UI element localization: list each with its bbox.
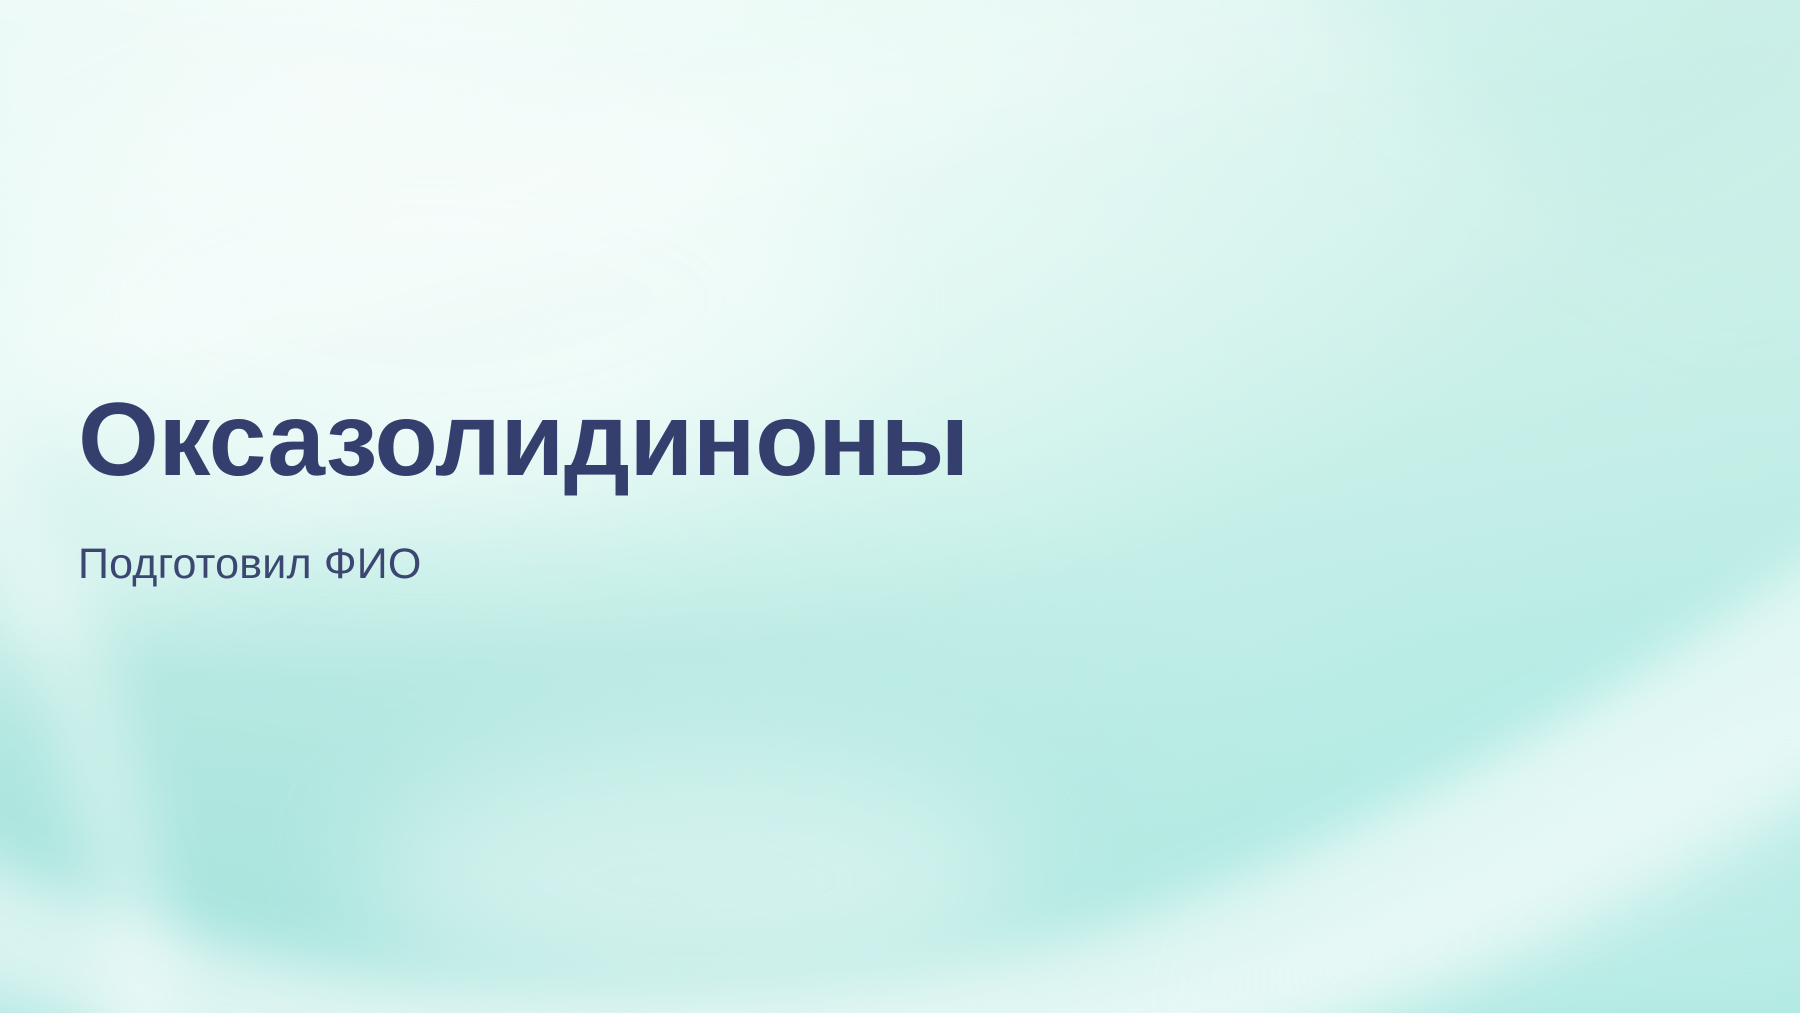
title-slide: Оксазолидиноны Подготовил ФИО	[0, 0, 1800, 1013]
title-block: Оксазолидиноны Подготовил ФИО	[78, 0, 1578, 1013]
slide-subtitle: Подготовил ФИО	[78, 540, 1578, 589]
page-title: Оксазолидиноны	[78, 388, 1578, 492]
